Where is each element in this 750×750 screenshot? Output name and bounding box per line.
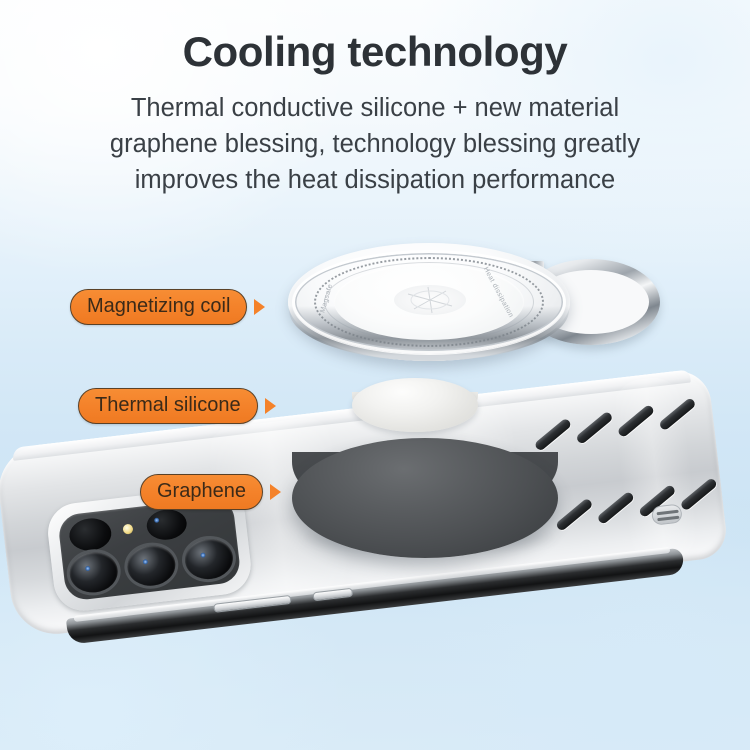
subtitle-line-3: improves the heat dissipation performanc… <box>40 162 710 198</box>
magnetic-ring-holder: Magsafe Heat dissipation <box>288 243 660 375</box>
right-triangle-arrow-icon <box>254 299 265 315</box>
right-triangle-arrow-icon <box>265 398 276 414</box>
camera-plate <box>57 496 242 602</box>
camera-lens <box>125 543 177 588</box>
page-title: Cooling technology <box>0 28 750 76</box>
right-triangle-arrow-icon <box>270 484 281 500</box>
callout-graphene[interactable]: Graphene <box>140 474 281 510</box>
camera-lens <box>183 536 235 581</box>
callout-thermal-silicone[interactable]: Thermal silicone <box>78 388 276 424</box>
pinwheel-fan-icon <box>394 285 466 315</box>
callout-label: Graphene <box>140 474 263 510</box>
camera-lens <box>68 550 120 595</box>
camera-lens <box>68 516 113 553</box>
camera-lens <box>145 507 188 541</box>
callout-magnetizing-coil[interactable]: Magnetizing coil <box>70 289 265 325</box>
subtitle-line-2: graphene blessing, technology blessing g… <box>40 126 710 162</box>
magsafe-disc: Magsafe Heat dissipation <box>288 243 570 361</box>
led-flash-icon <box>122 524 133 535</box>
graphene-disc <box>292 438 558 558</box>
callout-label: Magnetizing coil <box>70 289 247 325</box>
callout-label: Thermal silicone <box>78 388 258 424</box>
thermal-silicone-disc <box>352 378 478 432</box>
subtitle-line-1: Thermal conductive silicone + new materi… <box>40 90 710 126</box>
subtitle-block: Thermal conductive silicone + new materi… <box>40 90 710 198</box>
product-infographic: Cooling technology Thermal conductive si… <box>0 0 750 750</box>
